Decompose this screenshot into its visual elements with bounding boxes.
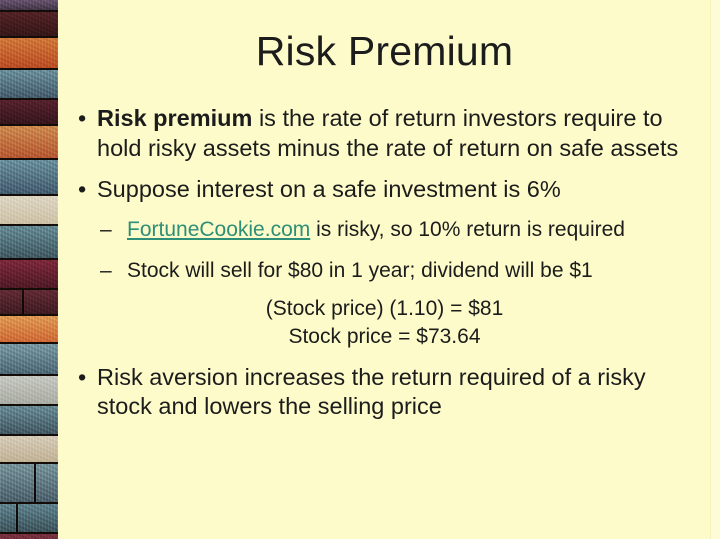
brick-band [0, 226, 58, 260]
brick-mortar-joint [16, 504, 18, 532]
bullet-marker-dot: • [78, 104, 86, 134]
brick-band [0, 100, 58, 126]
brick-band [0, 290, 58, 316]
brick-band [0, 196, 58, 226]
bullet-marker-dot: • [78, 175, 86, 205]
equation-line-2: Stock price = $73.64 [70, 323, 685, 351]
brick-band [0, 38, 58, 70]
brick-band [0, 376, 58, 406]
bullet-marker-dot: • [78, 363, 86, 393]
sub-bullet-text: FortuneCookie.com is risky, so 10% retur… [127, 218, 625, 241]
brick-band [0, 316, 58, 344]
brick-band [0, 260, 58, 290]
bullet-text: Risk premium is the rate of return inves… [97, 104, 685, 163]
brick-mortar-joint [34, 464, 36, 502]
sub-bullet-item: – Stock will sell for $80 in 1 year; div… [70, 257, 685, 284]
sub-bullet-rest: is risky, so 10% return is required [310, 218, 625, 241]
bullet-text: Suppose interest on a safe investment is… [97, 175, 685, 205]
brick-band [0, 126, 58, 160]
brick-band [0, 406, 58, 436]
brick-wall-photo-border [0, 0, 58, 539]
bullet-marker-dash: – [100, 216, 112, 243]
brick-band [0, 160, 58, 196]
sub-bullet-text: Stock will sell for $80 in 1 year; divid… [127, 259, 593, 282]
brick-band [0, 436, 58, 464]
brick-band [0, 70, 58, 100]
bullet-marker-dash: – [100, 257, 112, 284]
brick-band [0, 344, 58, 376]
bullet-item: • Risk aversion increases the return req… [70, 363, 685, 422]
bullet-bold-lead: Risk premium [97, 105, 252, 131]
slide-right-edge [710, 0, 720, 539]
brick-band [0, 504, 58, 534]
brick-band [0, 0, 58, 12]
slide-body: • Risk premium is the rate of return inv… [70, 104, 685, 424]
equation-line-1: (Stock price) (1.10) = $81 [70, 295, 685, 323]
bullet-item: • Risk premium is the rate of return inv… [70, 104, 685, 163]
page-title: Risk Premium [58, 27, 711, 76]
brick-band [0, 12, 58, 38]
slide-canvas: Risk Premium • Risk premium is the rate … [0, 0, 720, 539]
fortunecookie-link[interactable]: FortuneCookie.com [127, 218, 310, 241]
brick-band [0, 464, 58, 504]
sub-bullet-item: – FortuneCookie.com is risky, so 10% ret… [70, 216, 685, 243]
bullet-text: Risk aversion increases the return requi… [97, 363, 685, 422]
bullet-item: • Suppose interest on a safe investment … [70, 175, 685, 205]
brick-band [0, 534, 58, 539]
brick-mortar-joint [22, 290, 24, 314]
